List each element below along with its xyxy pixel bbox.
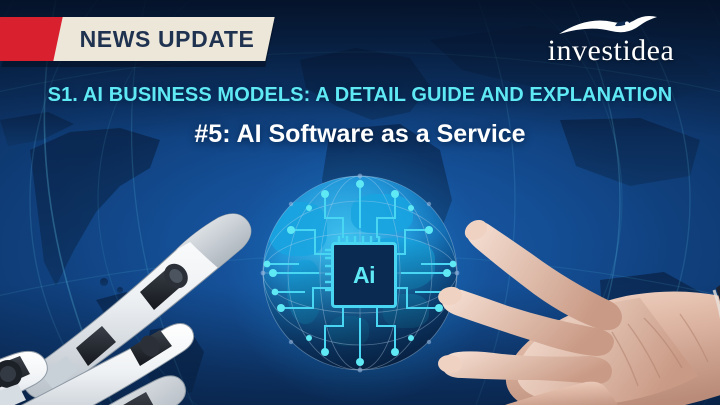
banner-label: NEWS UPDATE — [74, 26, 255, 53]
brand-logo[interactable]: investidea — [526, 14, 696, 66]
news-update-banner: NEWS UPDATE — [0, 17, 270, 63]
subtitle: #5: AI Software as a Service — [0, 120, 720, 149]
ai-chip: Ai — [325, 236, 397, 308]
banner-label-wrap: NEWS UPDATE — [58, 17, 270, 61]
human-hand — [430, 178, 720, 405]
news-update-graphic: Ai — [0, 0, 720, 405]
robot-hand — [0, 170, 300, 405]
chip-body: Ai — [331, 242, 397, 308]
chip-label: Ai — [353, 264, 375, 287]
logo-wordmark: investidea — [526, 36, 696, 66]
headline: S1. AI BUSINESS MODELS: A DETAIL GUIDE A… — [0, 84, 720, 107]
